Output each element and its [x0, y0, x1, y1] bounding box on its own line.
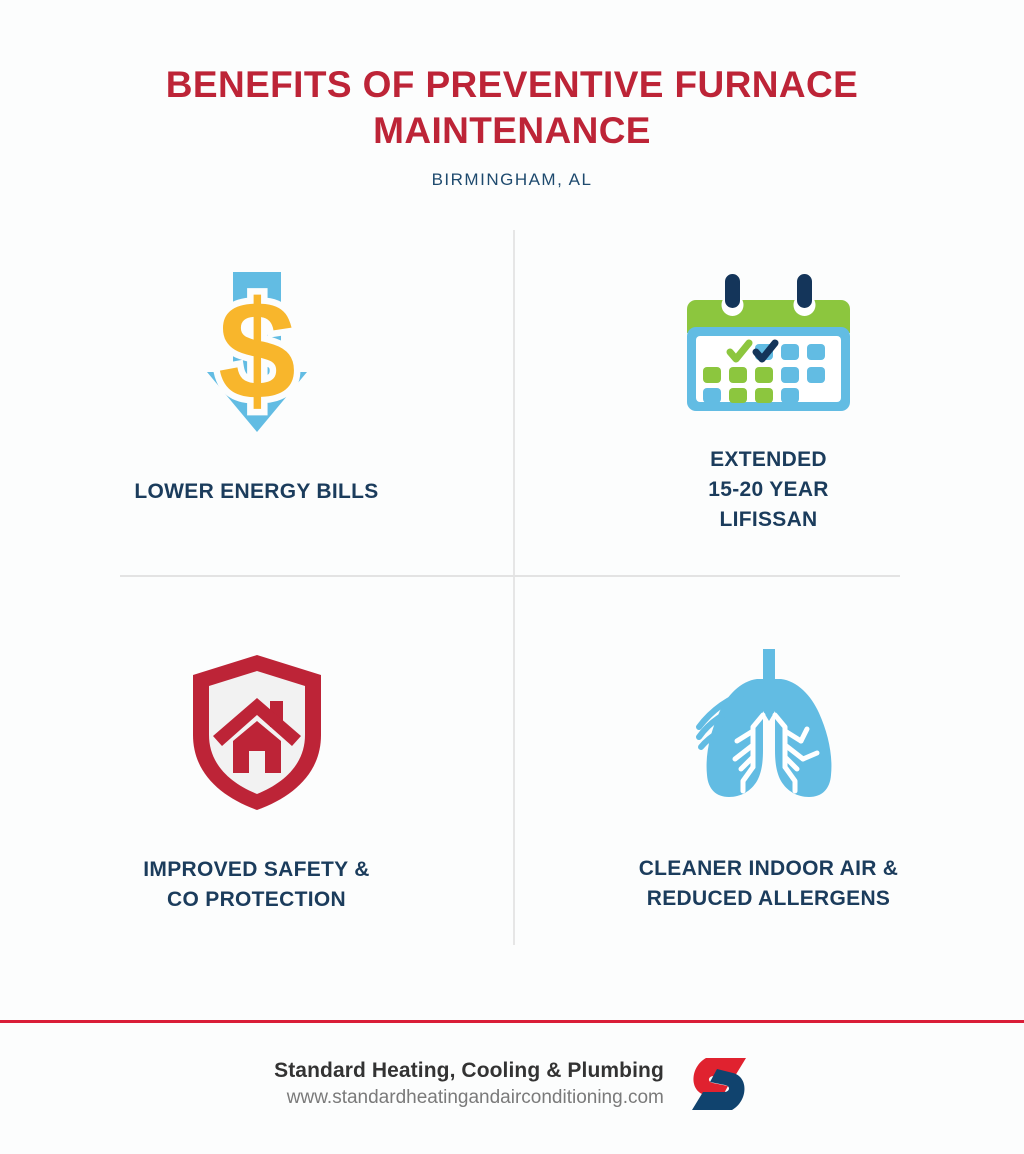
footer-divider — [0, 1020, 1024, 1023]
benefit-label: CLEANER INDOOR AIR &REDUCED ALLERGENS — [639, 854, 899, 914]
benefit-card-extended-lifespan: EXTENDED15-20 YEARLIFISSAN — [513, 232, 1024, 575]
benefit-label: LOWER ENERGY BILLS — [134, 477, 378, 507]
benefit-card-cleaner-air: CLEANER INDOOR AIR &REDUCED ALLERGENS — [513, 575, 1024, 944]
infographic-root: BENEFITS OF PREVENTIVE FURNACE MAINTENAN… — [0, 0, 1024, 1154]
benefit-card-improved-safety: IMPROVED SAFETY &CO PROTECTION — [0, 575, 513, 944]
svg-text:$: $ — [218, 272, 296, 429]
header: BENEFITS OF PREVENTIVE FURNACE MAINTENAN… — [0, 62, 1024, 190]
benefit-card-lower-energy-bills: $ $ LOWER ENERGY BILLS — [0, 232, 513, 575]
benefit-label: EXTENDED15-20 YEARLIFISSAN — [708, 445, 829, 535]
dollar-down-arrow-icon: $ $ — [203, 268, 311, 438]
calendar-icon — [686, 272, 851, 412]
lungs-icon — [669, 645, 869, 815]
company-name: Standard Heating, Cooling & Plumbing — [274, 1058, 664, 1084]
benefit-label: IMPROVED SAFETY &CO PROTECTION — [143, 855, 369, 915]
standard-s-logo — [688, 1055, 750, 1113]
page-title: BENEFITS OF PREVENTIVE FURNACE MAINTENAN… — [152, 62, 872, 153]
shield-house-icon — [189, 653, 325, 813]
footer: Standard Heating, Cooling & Plumbing www… — [0, 1055, 1024, 1113]
page-subtitle: BIRMINGHAM, AL — [0, 170, 1024, 190]
benefits-grid: $ $ LOWER ENERGY BILLS — [0, 232, 1024, 944]
footer-text-block: Standard Heating, Cooling & Plumbing www… — [274, 1058, 664, 1111]
company-url[interactable]: www.standardheatingandairconditioning.co… — [274, 1086, 664, 1111]
